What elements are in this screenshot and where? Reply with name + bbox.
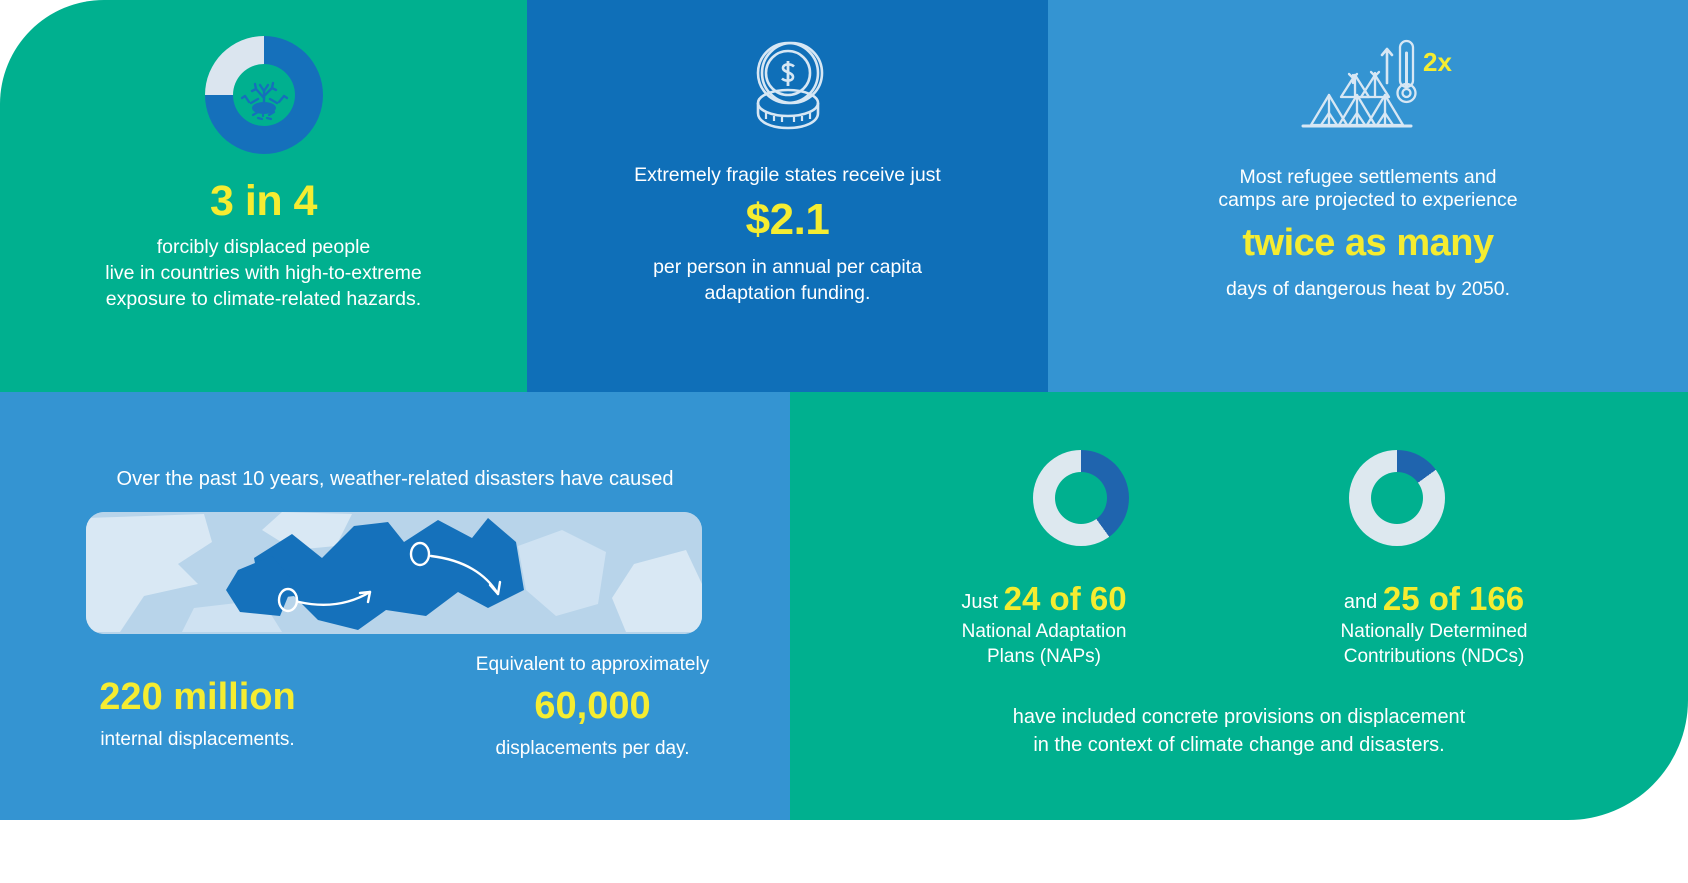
- bottom-row: Over the past 10 years, weather-related …: [0, 392, 1688, 820]
- policy-labels-row: Just 24 of 60 National Adaptation Plans …: [790, 580, 1688, 669]
- stat-twice-as-many: twice as many: [1242, 224, 1493, 264]
- panel4-left-stat-block: 220 million internal displacements.: [0, 654, 395, 760]
- naps-sub-line1: National Adaptation: [904, 620, 1184, 645]
- policy-item-naps: Just 24 of 60 National Adaptation Plans …: [904, 580, 1184, 669]
- panel2-body: per person in annual per capita adaptati…: [653, 255, 922, 306]
- naps-stat-line: Just 24 of 60: [904, 580, 1184, 618]
- stat-3-in-4: 3 in 4: [210, 179, 317, 224]
- ndcs-sublabel: Nationally Determined Contributions (NDC…: [1294, 620, 1574, 669]
- panel2-body-line2: adaptation funding.: [653, 281, 922, 307]
- ndcs-sub-line1: Nationally Determined: [1294, 620, 1574, 645]
- policy-item-ndcs: and 25 of 166 Nationally Determined Cont…: [1294, 580, 1574, 669]
- globe-tree-donut-icon: [205, 36, 323, 154]
- panel4-right-lead: Equivalent to approximately: [395, 654, 790, 676]
- panel-policy-provisions: Just 24 of 60 National Adaptation Plans …: [790, 392, 1688, 820]
- panel1-body-line3: exposure to climate-related hazards.: [105, 287, 421, 313]
- ndcs-stat-line: and 25 of 166: [1294, 580, 1574, 618]
- panel2-lead: Extremely fragile states receive just: [634, 164, 941, 187]
- donut-25-of-166-icon: [1349, 450, 1445, 546]
- panel1-body: forcibly displaced people live in countr…: [105, 235, 421, 312]
- naps-sublabel: National Adaptation Plans (NAPs): [904, 620, 1184, 669]
- world-map-migration-icon: [86, 512, 702, 634]
- panel4-headline: Over the past 10 years, weather-related …: [0, 468, 790, 491]
- panel-displacement-exposure: 3 in 4 forcibly displaced people live in…: [0, 0, 527, 392]
- panel3-lead-line1: Most refugee settlements and: [1218, 166, 1517, 189]
- infographic-root: 3 in 4 forcibly displaced people live in…: [0, 0, 1688, 883]
- donut-24-of-60-icon: [1033, 450, 1129, 546]
- panel-internal-displacements: Over the past 10 years, weather-related …: [0, 392, 790, 820]
- tents-thermometer-icon-wrap: 2x: [1283, 28, 1453, 150]
- naps-prefix: Just: [961, 591, 998, 613]
- panel1-body-line2: live in countries with high-to-extreme: [105, 261, 421, 287]
- policy-donuts-row: [790, 450, 1688, 546]
- panel5-footer-line2: in the context of climate change and dis…: [790, 732, 1688, 760]
- panel-adaptation-funding: Extremely fragile states receive just $2…: [527, 0, 1048, 392]
- coin-stack-icon: [736, 33, 840, 145]
- heat-multiplier-badge: 2x: [1423, 47, 1452, 77]
- ndcs-prefix: and: [1344, 591, 1377, 613]
- panel3-lead: Most refugee settlements and camps are p…: [1218, 166, 1517, 212]
- stat-220-million: 220 million: [0, 676, 395, 719]
- top-row: 3 in 4 forcibly displaced people live in…: [0, 0, 1688, 392]
- world-map-shapes: [86, 512, 702, 634]
- panel1-body-line1: forcibly displaced people: [105, 235, 421, 261]
- panel3-tail: days of dangerous heat by 2050.: [1226, 278, 1510, 301]
- panel5-footer-line1: have included concrete provisions on dis…: [790, 704, 1688, 732]
- panel4-right-stat-block: Equivalent to approximately 60,000 displ…: [395, 654, 790, 760]
- stat-2-1-dollars: $2.1: [746, 197, 830, 243]
- panel-dangerous-heat: 2x Most refugee settlements and camps ar…: [1048, 0, 1688, 392]
- panel2-body-line1: per person in annual per capita: [653, 255, 922, 281]
- panel4-stats-row: 220 million internal displacements. Equi…: [0, 654, 790, 760]
- globe-tree-donut-icon-wrap: [205, 33, 323, 157]
- naps-sub-line2: Plans (NAPs): [904, 645, 1184, 670]
- panel5-footer: have included concrete provisions on dis…: [790, 704, 1688, 759]
- panel3-lead-line2: camps are projected to experience: [1218, 189, 1517, 212]
- stat-24-of-60: 24 of 60: [1004, 580, 1127, 617]
- ndcs-sub-line2: Contributions (NDCs): [1294, 645, 1574, 670]
- stat-60000-caption: displacements per day.: [395, 738, 790, 760]
- tents-thermometer-icon: 2x: [1283, 33, 1453, 145]
- coin-stack-icon-wrap: [736, 28, 840, 150]
- tree-globe-icon: [227, 58, 301, 132]
- stat-220-million-caption: internal displacements.: [0, 729, 395, 751]
- stat-60000: 60,000: [395, 685, 790, 728]
- stat-25-of-166: 25 of 166: [1383, 580, 1524, 617]
